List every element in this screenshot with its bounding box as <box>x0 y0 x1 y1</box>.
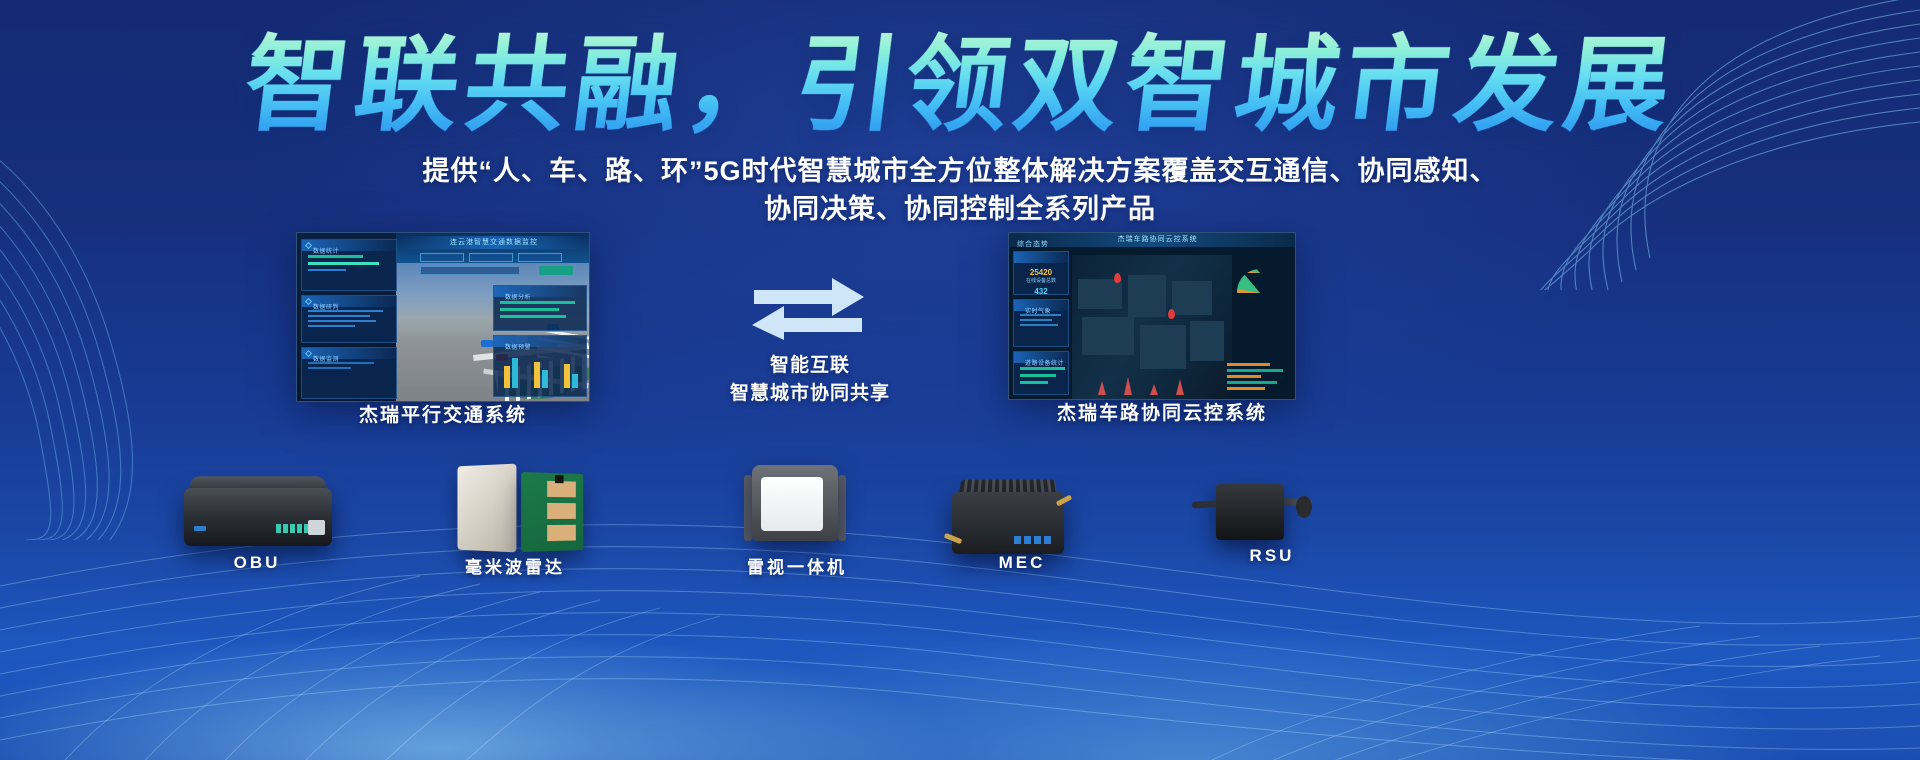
product-rsu-image[interactable] <box>1192 478 1312 548</box>
left-panel-caption: 杰瑞平行交通系统 <box>233 400 653 427</box>
product-mec-image[interactable] <box>952 478 1082 558</box>
left-card-alert[interactable]: 数据预警 <box>493 335 587 397</box>
radar-pcb <box>521 472 583 552</box>
bar <box>308 315 370 317</box>
product-lidar-camera-image[interactable] <box>752 465 852 557</box>
product-label-rsu: RSU <box>1152 546 1392 566</box>
map-block <box>1172 281 1212 315</box>
card-title: 数据分析 <box>505 295 531 301</box>
rsu-body <box>1216 484 1284 540</box>
map-block <box>1078 279 1122 309</box>
card-title: 实时气象 <box>1025 309 1051 315</box>
map-block <box>1082 317 1134 355</box>
chart-bar <box>572 374 578 388</box>
bar <box>500 308 559 311</box>
bar <box>1020 319 1052 321</box>
vehicle <box>481 340 493 347</box>
bar <box>1020 381 1048 384</box>
page-title: 智联共融，引领双智城市发展 <box>0 28 1920 144</box>
card-header: 数据分析 <box>494 286 586 297</box>
left-panel-search-input[interactable] <box>420 266 520 275</box>
left-panel-realtime-toggle[interactable] <box>539 266 573 275</box>
pcb-patch <box>547 481 576 497</box>
camera-lens-panel <box>761 477 823 531</box>
bar <box>500 315 566 318</box>
chart-spike <box>1176 379 1184 395</box>
right-panel-screen-title: 杰瑞车路协同云控系统 <box>1118 233 1198 247</box>
camera-housing <box>752 465 838 541</box>
bar <box>500 301 575 304</box>
product-label-mmwave-radar: 毫米波雷达 <box>395 553 635 578</box>
bar <box>1227 387 1265 390</box>
right-card-weather[interactable]: 实时气象 <box>1013 299 1069 347</box>
exchange-line-1: 智能互联 <box>640 352 980 380</box>
pcb-patch <box>547 503 576 519</box>
banner-stage: 智联共融，引领双智城市发展 提供“人、车、路、环”5G时代智慧城市全方位整体解决… <box>0 0 1920 760</box>
bar <box>1020 367 1065 370</box>
obu-body <box>184 488 332 546</box>
diamond-icon <box>305 298 312 305</box>
pcb-patch <box>547 525 576 541</box>
camera-bracket-right <box>838 475 846 541</box>
bar <box>1020 324 1058 326</box>
metric-value: 432 <box>1014 287 1068 296</box>
bar <box>1227 381 1277 384</box>
diamond-icon <box>305 242 312 249</box>
bar <box>308 320 376 322</box>
left-card-statistics[interactable]: 数据统计 <box>301 239 397 291</box>
exchange-caption: 智能互联 智慧城市协同共享 <box>640 352 980 408</box>
rsu-antenna-knob <box>1296 496 1312 518</box>
chart-bar <box>534 362 540 388</box>
left-card-research[interactable]: 数据研判 <box>301 295 397 343</box>
bar <box>308 262 379 265</box>
pcb-chip <box>555 475 564 483</box>
diamond-icon <box>305 350 312 357</box>
exchange-arrows-icon <box>748 272 868 344</box>
bar <box>1020 374 1056 377</box>
right-panel-topbar: 综合态势 杰瑞车路协同云控系统 <box>1009 233 1295 247</box>
bar <box>308 269 346 271</box>
right-panel-caption: 杰瑞车路协同云控系统 <box>952 398 1372 425</box>
card-title: 数据监测 <box>313 357 339 363</box>
map-pin[interactable] <box>1114 273 1121 283</box>
card-header: 数据统计 <box>302 240 396 251</box>
right-panel-map[interactable] <box>1072 255 1232 399</box>
radar-housing <box>457 464 516 553</box>
product-obu-image[interactable] <box>184 488 336 550</box>
right-card-device-stats[interactable]: 道路设备统计 <box>1013 351 1069 395</box>
chart-spike <box>1150 384 1158 395</box>
bar <box>308 325 355 327</box>
camera-bracket-left <box>744 475 752 541</box>
chart-bar <box>512 358 518 388</box>
metric-label: 在线设备总数 <box>1014 277 1068 284</box>
card-title: 数据研判 <box>313 305 339 311</box>
page-subtitle: 提供“人、车、路、环”5G时代智慧城市全方位整体解决方案覆盖交互通信、协同感知、… <box>0 152 1920 228</box>
obu-status-led <box>194 526 206 531</box>
right-topbar-label: 综合态势 <box>1017 241 1049 248</box>
product-label-mec: MEC <box>902 553 1142 573</box>
card-title: 数据统计 <box>313 249 339 255</box>
btn-traffic-status[interactable] <box>469 253 513 262</box>
product-label-lidar-camera: 雷视一体机 <box>677 553 917 578</box>
product-mmwave-radar-image[interactable] <box>455 465 590 557</box>
chart-spike <box>1124 377 1132 395</box>
chart-spike <box>1098 381 1106 395</box>
obu-ethernet-port <box>308 520 325 535</box>
bar <box>1227 375 1261 378</box>
card-title: 数据预警 <box>505 345 531 351</box>
mec-body <box>952 492 1064 554</box>
left-card-analysis[interactable]: 数据分析 <box>493 285 587 331</box>
map-block <box>1140 325 1186 369</box>
bar <box>308 367 351 369</box>
cloud-control-system-screenshot[interactable]: 综合态势 杰瑞车路协同云控系统 25420 在线设备总数 432 实时气象 <box>1008 232 1296 400</box>
card-header: 数据监测 <box>302 348 396 359</box>
exchange-line-2: 智慧城市协同共享 <box>640 380 980 408</box>
card-header: 实时气象 <box>1014 300 1068 311</box>
metric-value: 25420 <box>1014 268 1068 277</box>
left-panel-screen-title: 连云港智慧交通数据监控 <box>402 236 586 249</box>
bar <box>1227 369 1283 372</box>
subtitle-line-2: 协同决策、协同控制全系列产品 <box>0 190 1920 228</box>
btn-device-manage[interactable] <box>518 253 562 262</box>
map-block <box>1128 275 1166 317</box>
card-title: 道路设备统计 <box>1025 361 1064 367</box>
left-panel-button-row[interactable] <box>420 253 562 262</box>
product-label-obu: OBU <box>137 553 377 573</box>
right-card-overview[interactable]: 25420 在线设备总数 432 <box>1013 251 1069 295</box>
left-card-monitor[interactable]: 数据监测 <box>301 347 397 399</box>
chart-bar <box>504 366 510 388</box>
bar <box>1227 363 1270 366</box>
chart-bar <box>542 370 548 388</box>
card-header: 数据预警 <box>494 336 586 347</box>
card-header: 道路设备统计 <box>1014 352 1068 363</box>
map-pin[interactable] <box>1168 309 1175 319</box>
right-stats-list <box>1227 363 1289 393</box>
card-header <box>1014 252 1068 263</box>
subtitle-line-1: 提供“人、车、路、环”5G时代智慧城市全方位整体解决方案覆盖交互通信、协同感知、 <box>0 152 1920 190</box>
map-block <box>1190 321 1224 361</box>
mec-port-array <box>1014 536 1051 544</box>
btn-traffic-analysis[interactable] <box>420 253 464 262</box>
card-header: 数据研判 <box>302 296 396 307</box>
bar <box>308 255 363 258</box>
chart-bar <box>564 364 570 388</box>
parallel-traffic-system-screenshot[interactable]: 连云港智慧交通数据监控 数据统计 数据研判 数据监测 数据分析 <box>296 232 590 402</box>
